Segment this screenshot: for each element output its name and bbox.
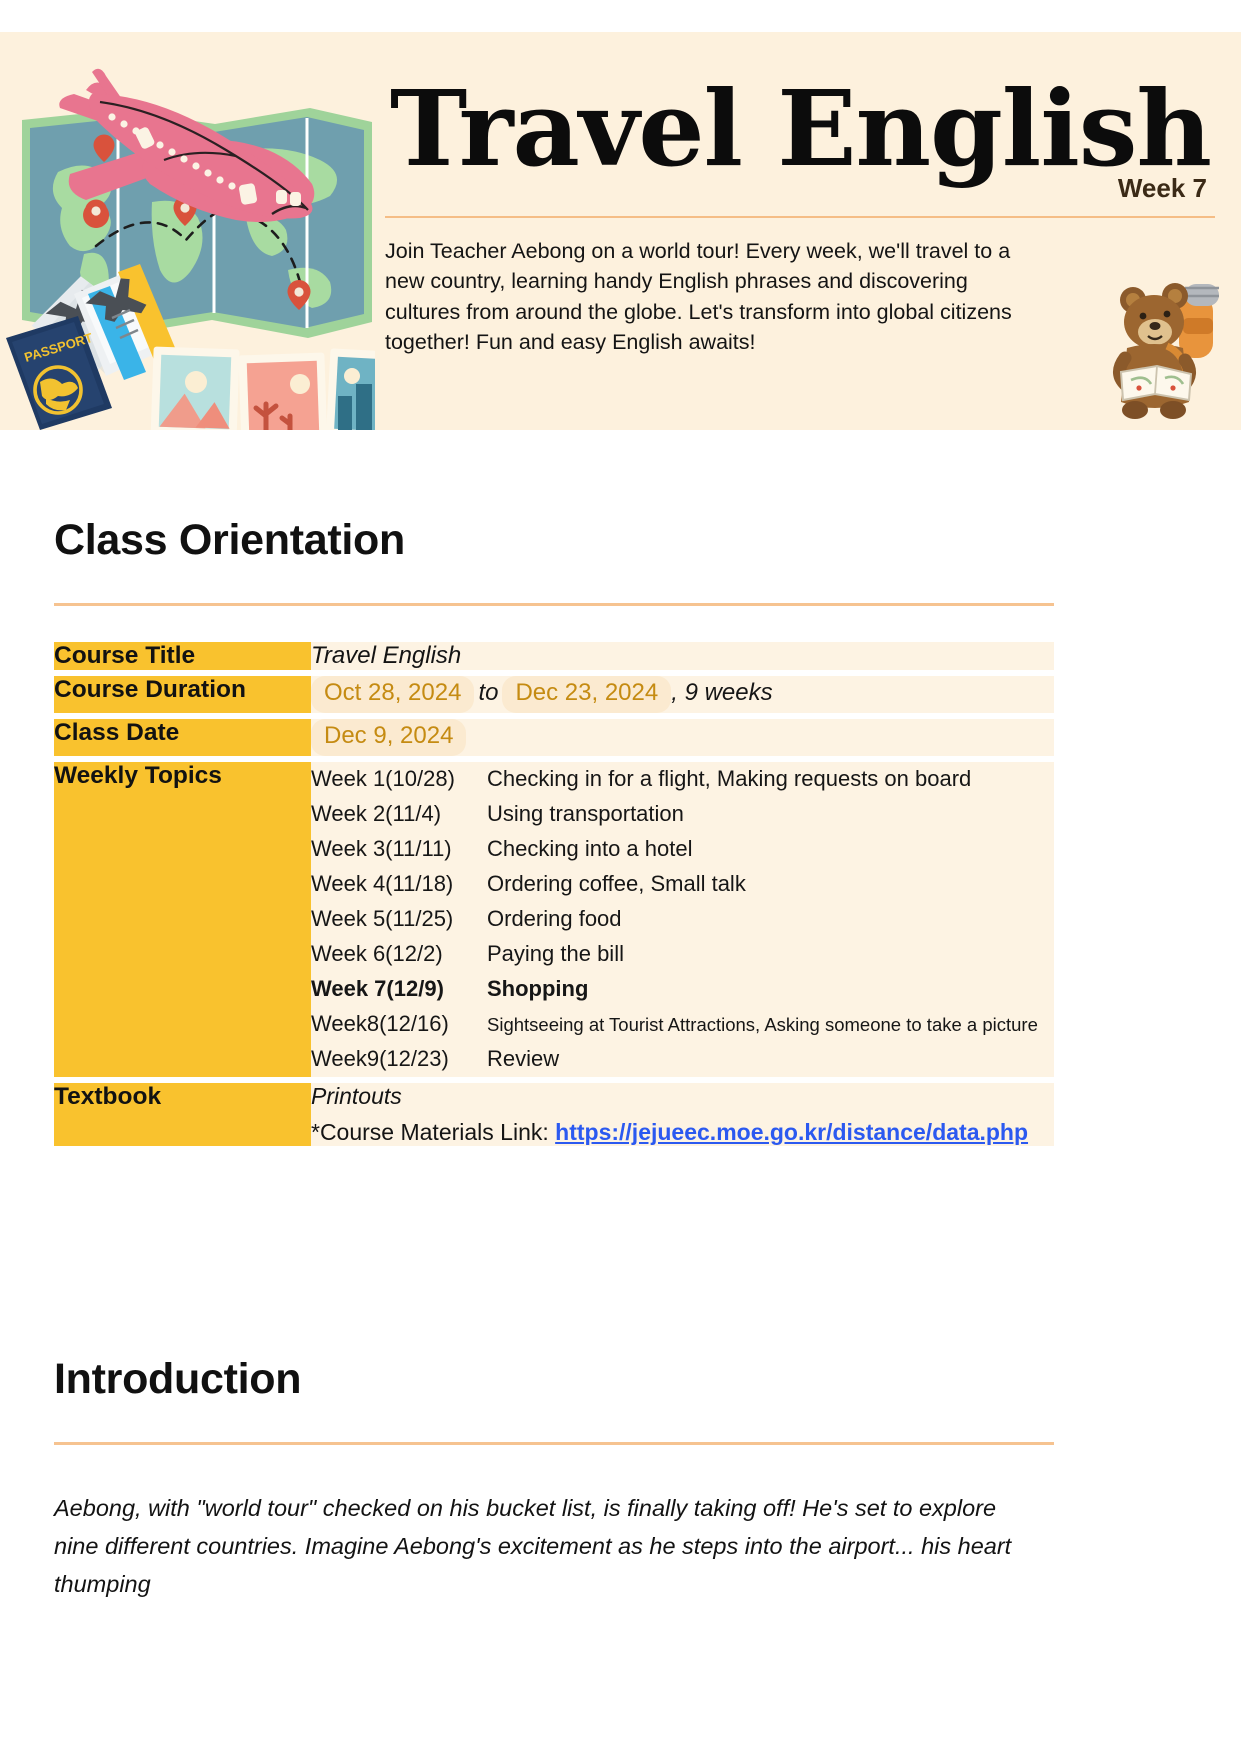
title-zone: Travel English Week 7 Join Teacher Aebon…	[385, 80, 1215, 358]
topic-week-label: Week9(12/23)	[311, 1042, 487, 1077]
topic-row: Week9(12/23)Review	[311, 1042, 1038, 1077]
value-course-title: Travel English	[311, 642, 1054, 670]
date-chip-class-date[interactable]: Dec 9, 2024	[311, 719, 466, 756]
course-materials-link[interactable]: https://jejueec.moe.go.kr/distance/data.…	[555, 1119, 1028, 1145]
topic-row: Week 3(11/11)Checking into a hotel	[311, 832, 1038, 867]
materials-link-line: *Course Materials Link: https://jejueec.…	[311, 1119, 1054, 1146]
topic-week-label: Week 5(11/25)	[311, 902, 487, 937]
topic-name-label: Sightseeing at Tourist Attractions, Aski…	[487, 1007, 1038, 1042]
introduction-section: Introduction Aebong, with "world tour" c…	[54, 1355, 1054, 1603]
course-title-text: Travel English	[311, 642, 461, 669]
duration-conjunction: to	[478, 679, 498, 706]
course-info-table: Course Title Travel English Course Durat…	[54, 636, 1054, 1152]
held-map-icon	[1121, 366, 1191, 400]
label-weekly-topics: Weekly Topics	[54, 762, 311, 1077]
header-description: Join Teacher Aebong on a world tour! Eve…	[385, 236, 1045, 358]
section-divider	[54, 1442, 1054, 1445]
topic-row: Week 6(12/2)Paying the bill	[311, 937, 1038, 972]
value-weekly-topics: Week 1(10/28)Checking in for a flight, M…	[311, 762, 1054, 1077]
topic-name-label: Shopping	[487, 972, 1038, 1007]
date-chip-start[interactable]: Oct 28, 2024	[311, 676, 474, 713]
label-class-date: Class Date	[54, 719, 311, 756]
header-divider	[385, 216, 1215, 218]
label-course-title: Course Title	[54, 642, 311, 670]
topic-week-label: Week8(12/16)	[311, 1007, 487, 1042]
materials-link-prefix: *Course Materials Link:	[311, 1119, 555, 1145]
topic-week-label: Week 4(11/18)	[311, 867, 487, 902]
value-course-duration: Oct 28, 2024toDec 23, 2024, 9 weeks	[311, 676, 1054, 713]
topic-name-label: Ordering food	[487, 902, 1038, 937]
topic-row: Week 1(10/28)Checking in for a flight, M…	[311, 762, 1038, 797]
value-class-date: Dec 9, 2024	[311, 719, 1054, 756]
date-chip-end[interactable]: Dec 23, 2024	[502, 676, 671, 713]
label-textbook: Textbook	[54, 1083, 311, 1146]
topic-name-label: Checking into a hotel	[487, 832, 1038, 867]
table-row-weekly-topics: Weekly Topics Week 1(10/28)Checking in f…	[54, 762, 1054, 1077]
textbook-text: Printouts	[311, 1083, 1054, 1110]
duration-suffix: , 9 weeks	[671, 679, 772, 706]
table-row-course-duration: Course Duration Oct 28, 2024toDec 23, 20…	[54, 676, 1054, 713]
topic-row: Week 7(12/9)Shopping	[311, 972, 1038, 1007]
topic-name-label: Review	[487, 1042, 1038, 1077]
topic-row: Week 4(11/18)Ordering coffee, Small talk	[311, 867, 1038, 902]
topic-row: Week8(12/16)Sightseeing at Tourist Attra…	[311, 1007, 1038, 1042]
table-row-course-title: Course Title Travel English	[54, 642, 1054, 670]
topic-week-label: Week 6(12/2)	[311, 937, 487, 972]
topic-name-label: Using transportation	[487, 797, 1038, 832]
label-course-duration: Course Duration	[54, 676, 311, 713]
topic-name-label: Paying the bill	[487, 937, 1038, 972]
travel-collage-illustration: PASSPORT	[0, 32, 375, 430]
photo-prints-icon	[150, 347, 375, 430]
topic-week-label: Week 2(11/4)	[311, 797, 487, 832]
table-row-textbook: Textbook Printouts *Course Materials Lin…	[54, 1083, 1054, 1146]
section-heading-orientation: Class Orientation	[54, 516, 1054, 565]
section-heading-introduction: Introduction	[54, 1355, 1054, 1404]
topic-name-label: Checking in for a flight, Making request…	[487, 762, 1038, 797]
weekly-topics-list: Week 1(10/28)Checking in for a flight, M…	[311, 762, 1038, 1077]
value-textbook: Printouts *Course Materials Link: https:…	[311, 1083, 1054, 1146]
topic-row: Week 2(11/4)Using transportation	[311, 797, 1038, 832]
introduction-body: Aebong, with "world tour" checked on his…	[54, 1489, 1039, 1603]
section-divider	[54, 603, 1054, 606]
topic-name-label: Ordering coffee, Small talk	[487, 867, 1038, 902]
topic-week-label: Week 1(10/28)	[311, 762, 487, 797]
page-header: PASSPORT	[0, 32, 1241, 430]
bear-mascot-illustration	[1093, 274, 1233, 422]
topic-week-label: Week 7(12/9)	[311, 972, 487, 1007]
class-orientation-section: Class Orientation Course Title Travel En…	[54, 516, 1054, 1152]
topic-week-label: Week 3(11/11)	[311, 832, 487, 867]
table-row-class-date: Class Date Dec 9, 2024	[54, 719, 1054, 756]
page-title: Travel English	[385, 80, 1215, 179]
topic-row: Week 5(11/25)Ordering food	[311, 902, 1038, 937]
